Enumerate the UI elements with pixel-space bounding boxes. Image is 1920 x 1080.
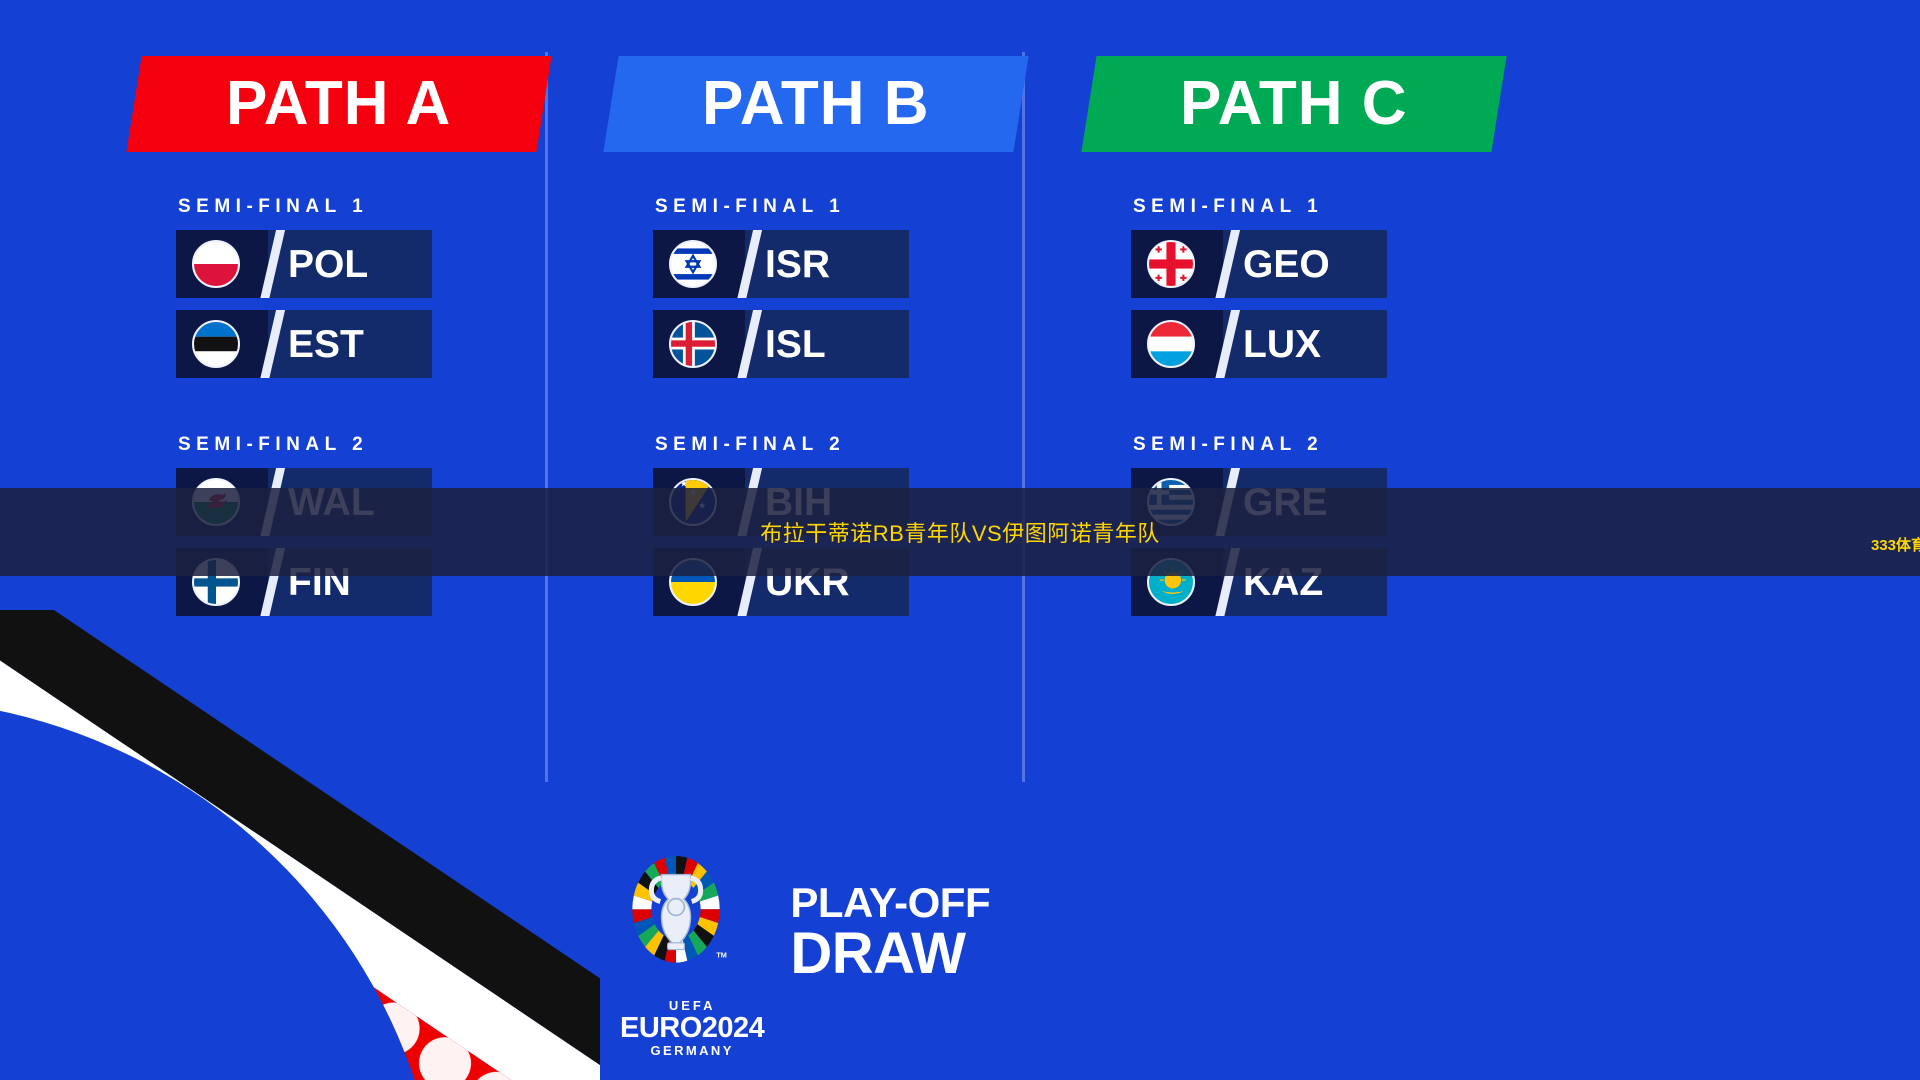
team-code-label: POL: [288, 245, 368, 284]
playoff-draw-title: PLAY-OFF DRAW: [790, 882, 990, 1027]
path-header-label: PATH C: [1180, 73, 1408, 135]
team-code-label: EST: [288, 325, 364, 364]
team-card[interactable]: ISR: [653, 230, 909, 298]
path-header-b: PATH B: [603, 56, 1028, 152]
germany-label: GERMANY: [620, 1043, 764, 1058]
playoff-title-line1: PLAY-OFF: [790, 882, 990, 925]
team-card[interactable]: ISL: [653, 310, 909, 378]
path-header-a: PATH A: [126, 56, 551, 152]
semifinal-caption: SEMI-FINAL 1: [178, 196, 550, 218]
team-card[interactable]: POL: [176, 230, 432, 298]
team-card[interactable]: GEO: [1131, 230, 1387, 298]
team-card[interactable]: EST: [176, 310, 432, 378]
path-columns-container: PATH ASEMI-FINAL 1POLESTSEMI-FINAL 2 WAL…: [0, 0, 1920, 800]
semifinal-caption: SEMI-FINAL 1: [655, 196, 1027, 218]
flag-luxembourg-icon: [1147, 320, 1195, 368]
team-code-label: GEO: [1243, 245, 1330, 284]
flag-poland-icon: [192, 240, 240, 288]
euro-2024-logo: TM UEFA EURO2024 GERMANY: [620, 851, 764, 1058]
semifinal-caption: SEMI-FINAL 2: [655, 434, 1027, 456]
team-code-label: LUX: [1243, 325, 1321, 364]
path-header-label: PATH A: [226, 73, 451, 135]
site-watermark: 333体育: [1871, 534, 1920, 555]
semifinal-caption: SEMI-FINAL 2: [178, 434, 550, 456]
overlay-banner-text: 布拉干蒂诺RB青年队VS伊图阿诺青年队: [760, 516, 1159, 548]
svg-text:TM: TM: [716, 950, 727, 959]
flag-iceland-icon: [669, 320, 717, 368]
overlay-banner: 布拉干蒂诺RB青年队VS伊图阿诺青年队 333体育: [0, 488, 1920, 576]
path-header-label: PATH B: [702, 73, 930, 135]
euro-2024-playoff-draw-graphic: PATH ASEMI-FINAL 1POLESTSEMI-FINAL 2 WAL…: [0, 0, 1920, 1080]
path-header-c: PATH C: [1081, 56, 1506, 152]
brand-lockup: TM UEFA EURO2024 GERMANY PLAY-OFF DRAW: [620, 851, 990, 1058]
uefa-label: UEFA: [620, 998, 764, 1013]
semifinal-caption: SEMI-FINAL 1: [1133, 196, 1505, 218]
flag-estonia-icon: [192, 320, 240, 368]
team-card[interactable]: LUX: [1131, 310, 1387, 378]
team-code-label: ISR: [765, 245, 830, 284]
team-code-label: ISL: [765, 325, 826, 364]
semifinal-caption: SEMI-FINAL 2: [1133, 434, 1505, 456]
flag-georgia-icon: [1147, 240, 1195, 288]
flag-israel-icon: [669, 240, 717, 288]
euro-2024-label: EURO2024: [620, 1013, 764, 1043]
playoff-title-line2: DRAW: [790, 925, 990, 983]
